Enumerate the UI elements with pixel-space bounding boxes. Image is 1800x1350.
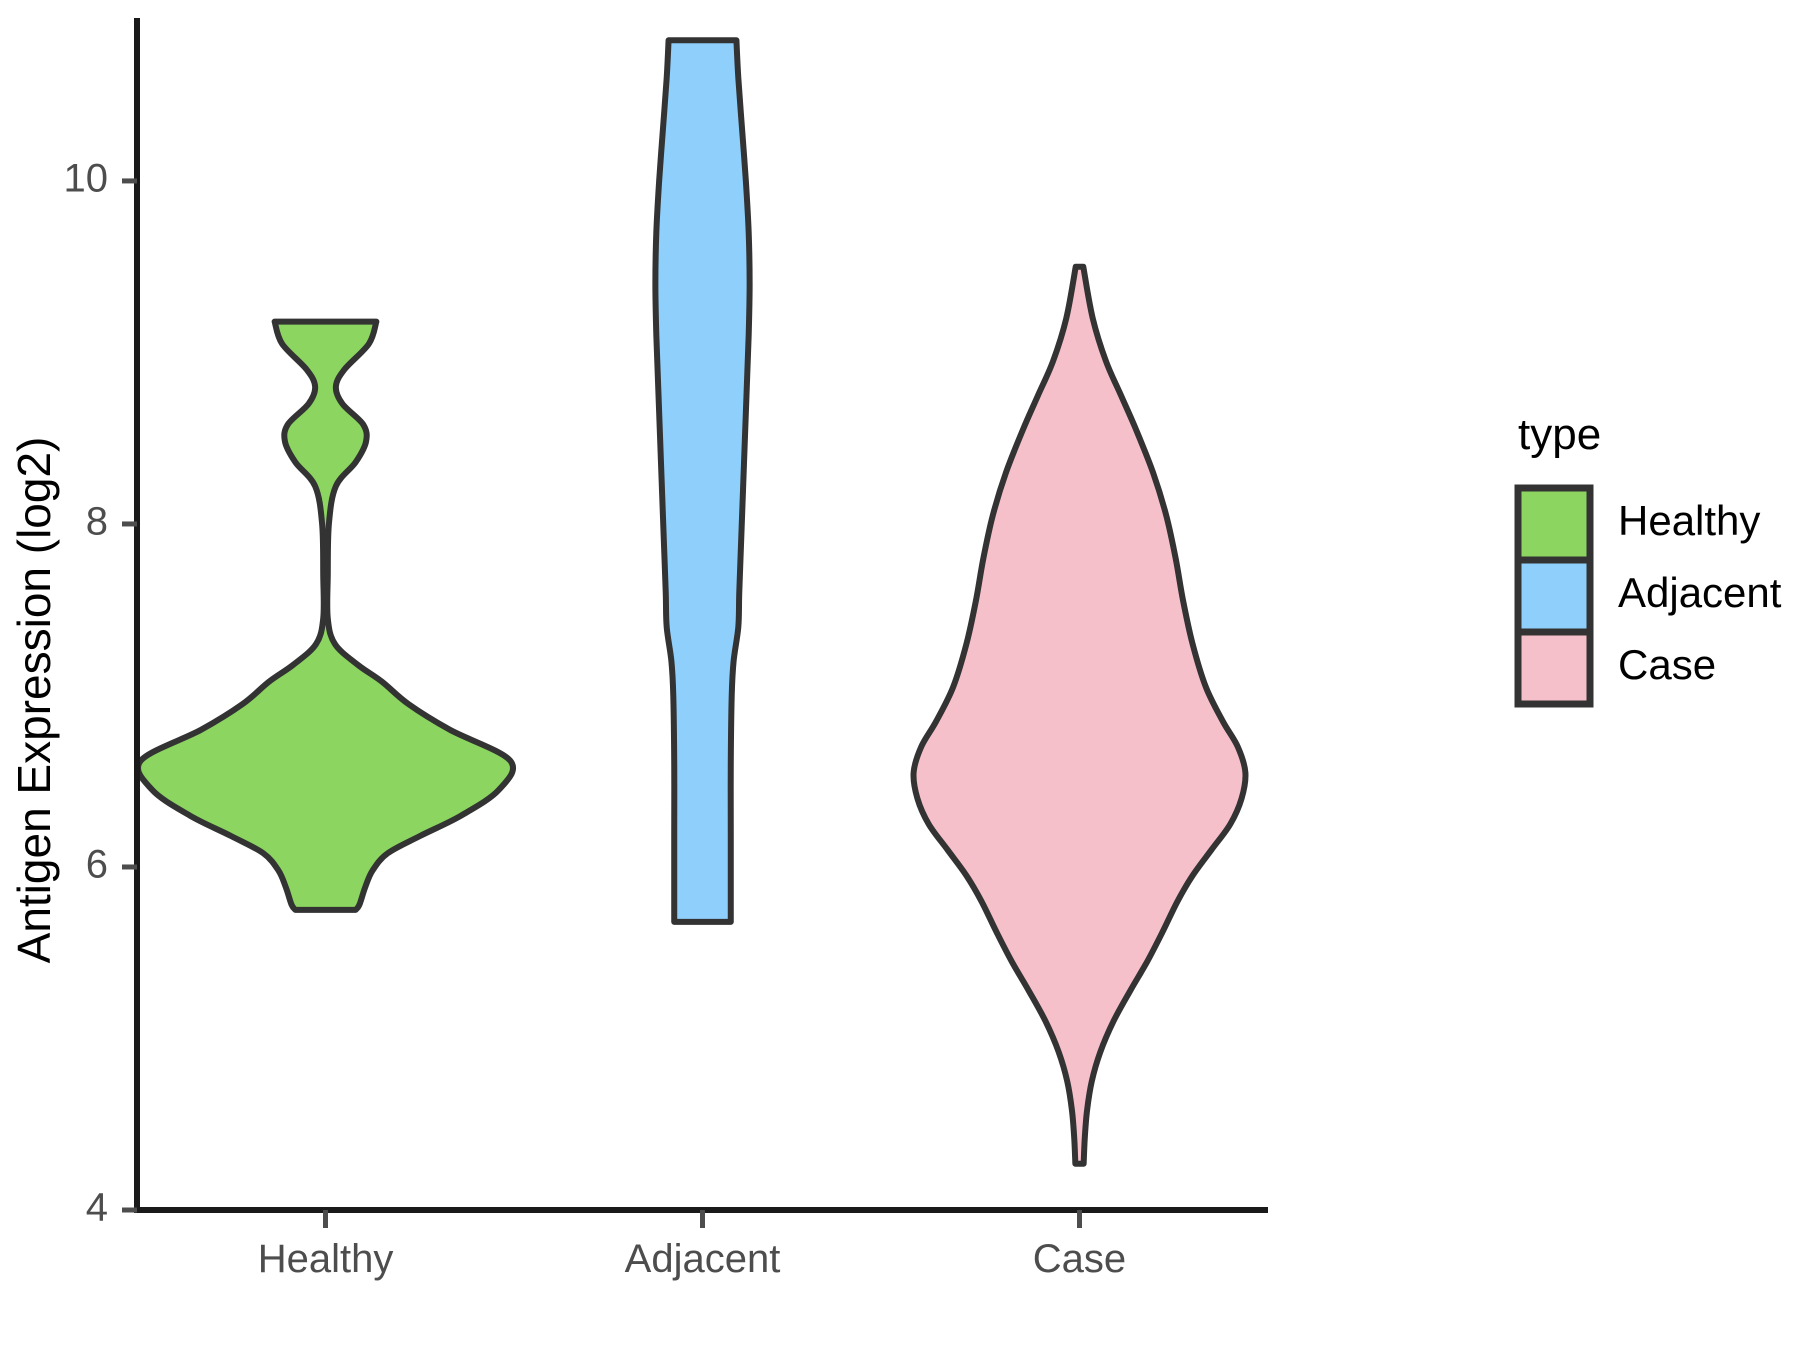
legend-swatch-case[interactable] xyxy=(1518,632,1590,704)
y-axis-title: Antigen Expression (log2) xyxy=(8,437,60,964)
y-tick-label: 10 xyxy=(64,156,109,200)
legend-swatch-adjacent[interactable] xyxy=(1518,560,1590,632)
legend-label-adjacent: Adjacent xyxy=(1618,569,1782,616)
legend-label-case: Case xyxy=(1618,641,1716,688)
x-tick-label-adjacent: Adjacent xyxy=(625,1237,781,1281)
y-tick-label: 4 xyxy=(86,1186,108,1230)
chart-root: 46810 HealthyAdjacentCase Antigen Expres… xyxy=(0,0,1800,1350)
violin-plot-figure: 46810 HealthyAdjacentCase Antigen Expres… xyxy=(0,0,1800,1350)
x-tick-label-healthy: Healthy xyxy=(258,1237,394,1281)
y-tick-label: 8 xyxy=(86,500,108,544)
legend-label-healthy: Healthy xyxy=(1618,497,1760,544)
legend-title: type xyxy=(1518,410,1601,459)
legend-swatch-healthy[interactable] xyxy=(1518,488,1590,560)
y-tick-label: 6 xyxy=(86,843,108,887)
x-tick-label-case: Case xyxy=(1033,1237,1126,1281)
